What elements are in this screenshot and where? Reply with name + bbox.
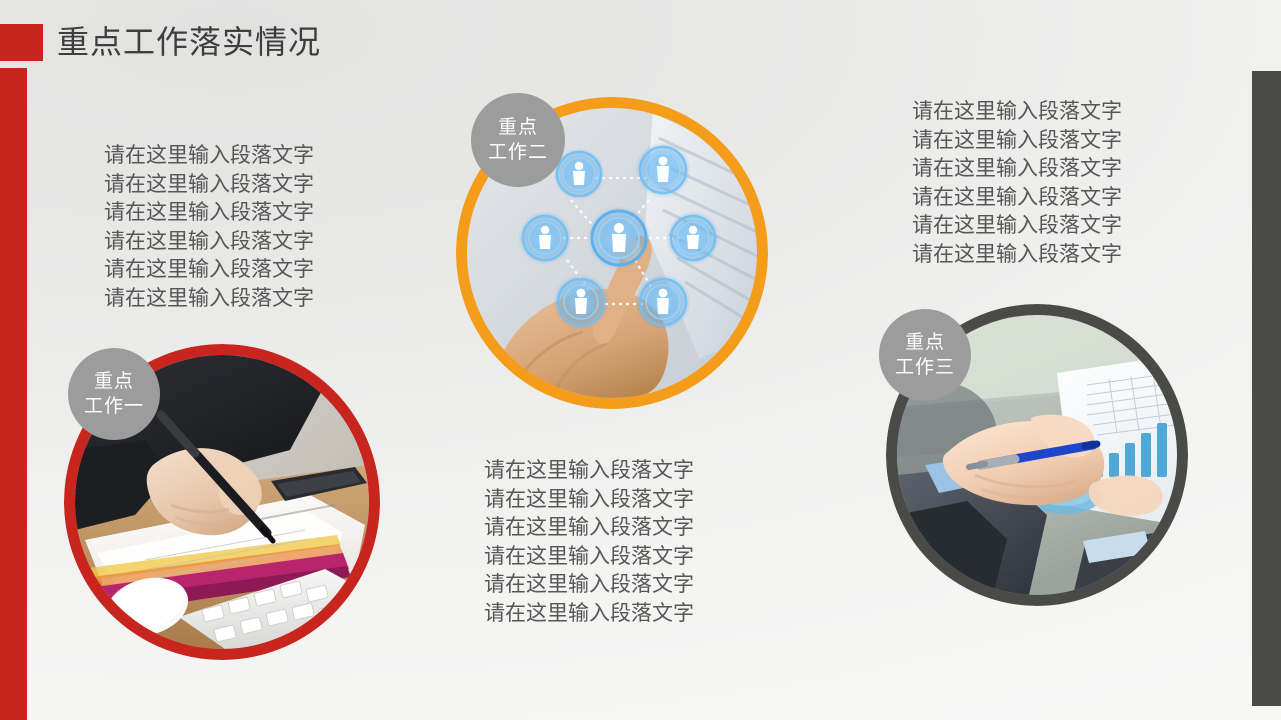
paragraph-line: 请在这里输入段落文字 [104,256,314,285]
badge-item-three[interactable]: 重点 工作三 [879,309,971,401]
paragraph-line: 请在这里输入段落文字 [912,98,1122,127]
badge-item-two[interactable]: 重点 工作二 [471,93,565,187]
badge-two-line1: 重点 [498,115,538,140]
badge-two-line2: 工作二 [488,140,548,165]
paragraph-line: 请在这里输入段落文字 [484,600,694,629]
paragraph-line: 请在这里输入段落文字 [484,514,694,543]
badge-item-one[interactable]: 重点 工作一 [68,348,160,440]
red-accent-block [0,24,43,61]
paragraph-line: 请在这里输入段落文字 [912,127,1122,156]
paragraph-line: 请在这里输入段落文字 [912,241,1122,270]
paragraph-line: 请在这里输入段落文字 [912,212,1122,241]
paragraph-block-right: 请在这里输入段落文字 请在这里输入段落文字 请在这里输入段落文字 请在这里输入段… [912,98,1122,270]
paragraph-line: 请在这里输入段落文字 [912,184,1122,213]
badge-three-line2: 工作三 [895,355,955,380]
paragraph-line: 请在这里输入段落文字 [484,571,694,600]
dark-accent-sidebar [1252,71,1281,706]
paragraph-line: 请在这里输入段落文字 [104,142,314,171]
paragraph-line: 请在这里输入段落文字 [104,171,314,200]
paragraph-block-center-bottom: 请在这里输入段落文字 请在这里输入段落文字 请在这里输入段落文字 请在这里输入段… [484,457,694,629]
paragraph-line: 请在这里输入段落文字 [104,285,314,314]
slide-canvas: 重点工作落实情况 请在这里输入段落文字 请在这里输入段落文字 请在这里输入段落文… [0,0,1281,720]
paragraph-line: 请在这里输入段落文字 [484,486,694,515]
paragraph-block-left: 请在这里输入段落文字 请在这里输入段落文字 请在这里输入段落文字 请在这里输入段… [104,142,314,314]
badge-three-line1: 重点 [905,330,945,355]
red-accent-sidebar [0,68,27,720]
badge-one-line2: 工作一 [84,394,144,419]
paragraph-line: 请在这里输入段落文字 [484,543,694,572]
badge-one-line1: 重点 [94,369,134,394]
paragraph-line: 请在这里输入段落文字 [104,199,314,228]
page-title: 重点工作落实情况 [57,20,321,64]
paragraph-line: 请在这里输入段落文字 [104,228,314,257]
paragraph-line: 请在这里输入段落文字 [484,457,694,486]
paragraph-line: 请在这里输入段落文字 [912,155,1122,184]
